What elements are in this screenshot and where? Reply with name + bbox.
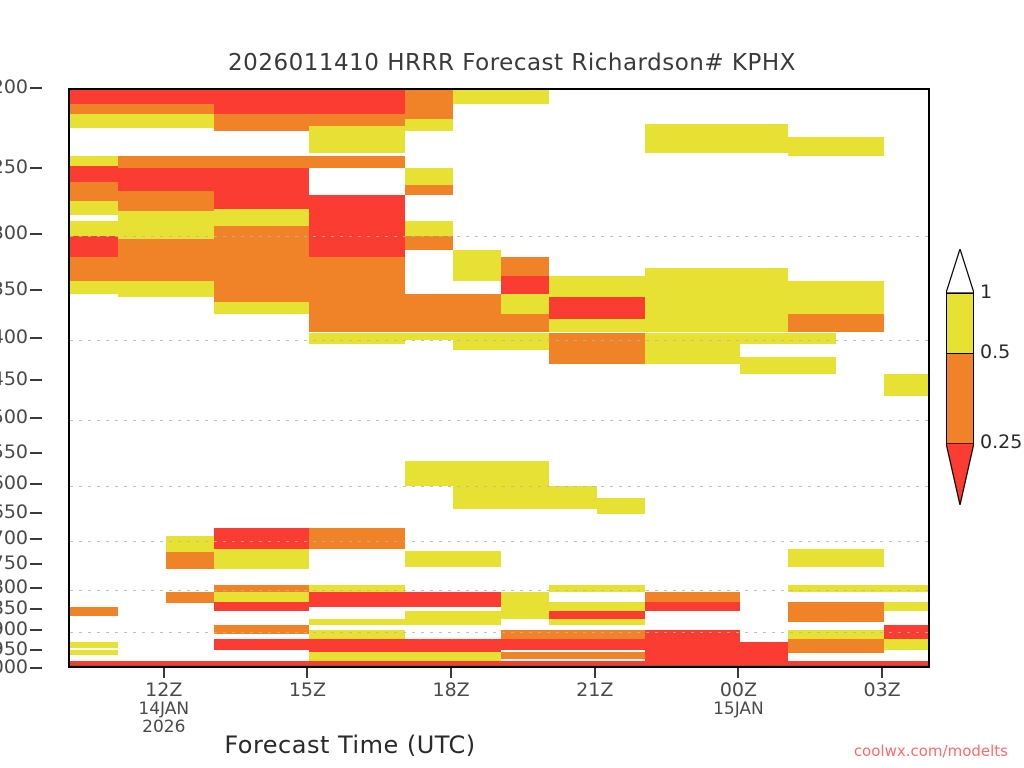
colorbar-label-05: 0.5: [980, 343, 1010, 362]
x-tick-mark: [594, 668, 596, 678]
x-axis-title: Forecast Time (UTC): [0, 731, 700, 759]
x-axis: 12Z14JAN202615Z18Z21Z00Z15JAN03Z: [0, 0, 1024, 768]
x-tick-label: 18Z: [391, 681, 511, 701]
colorbar-label-025: 0.25: [980, 433, 1022, 452]
watermark: coolwx.com/modelts: [854, 742, 1008, 760]
x-tick-mark: [737, 668, 739, 678]
x-tick-label: 12Z14JAN2026: [104, 681, 224, 737]
colorbar-top-arrow-outline: [946, 249, 974, 293]
colorbar-label-1: 1: [980, 283, 992, 302]
colorbar-segment-orange: [946, 353, 974, 443]
x-tick-label: 15Z: [247, 681, 367, 701]
x-tick-mark: [163, 668, 165, 678]
x-tick-label: 00Z15JAN: [678, 681, 798, 719]
x-tick-mark: [881, 668, 883, 678]
colorbar-segment-yellow: [946, 293, 974, 353]
x-tick-mark: [450, 668, 452, 678]
colorbar-bottom-arrow: [946, 443, 974, 505]
colorbar-tick-1: [946, 293, 974, 294]
colorbar-legend: 1 0.5 0.25: [946, 293, 974, 443]
x-tick-label: 21Z: [535, 681, 655, 701]
colorbar-tick-05: [946, 353, 974, 354]
x-tick-label: 03Z: [822, 681, 942, 701]
chart-canvas: 2026011410 HRRR Forecast Richardson# KPH…: [0, 0, 1024, 768]
x-tick-mark: [306, 668, 308, 678]
